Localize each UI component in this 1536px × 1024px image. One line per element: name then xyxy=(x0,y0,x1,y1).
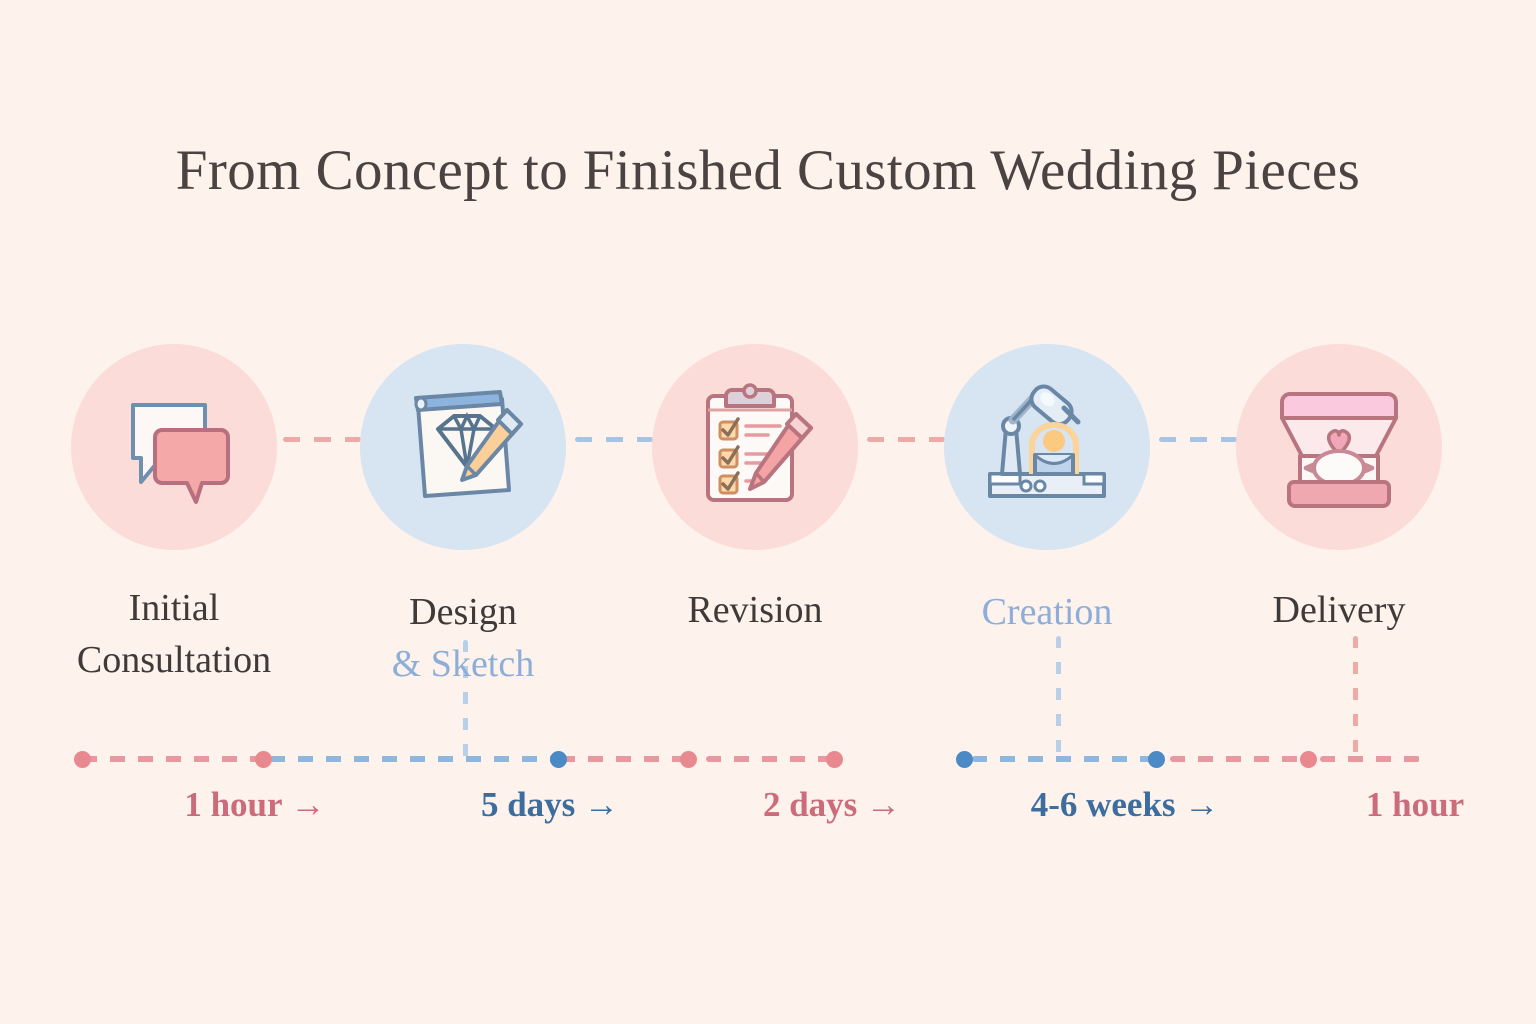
stage-label-design-sketch: Design & Sketch xyxy=(343,586,583,690)
duration-label-2: 5 days → xyxy=(410,785,690,825)
stage-circle-initial-consultation[interactable] xyxy=(71,344,277,550)
timeline-segment-2 xyxy=(270,756,555,762)
sketchpad-diamond-pencil-icon xyxy=(388,372,538,522)
timeline-segment-3 xyxy=(560,756,698,762)
duration-label-1: 1 hour → xyxy=(115,785,395,825)
page-title: From Concept to Finished Custom Wedding … xyxy=(0,138,1536,203)
timeline-node-end[interactable] xyxy=(1300,751,1317,768)
timeline-node-6[interactable] xyxy=(1148,751,1165,768)
stage-circle-revision[interactable] xyxy=(652,344,858,550)
duration-label-4: 4-6 weeks → xyxy=(985,785,1265,825)
timeline-node-4[interactable] xyxy=(826,751,843,768)
stage-label-row: Initial Consultation Design & Sketch Rev… xyxy=(60,582,1476,692)
timeline-track xyxy=(60,752,1476,766)
ring-box-icon xyxy=(1264,372,1414,522)
timeline-node-5[interactable] xyxy=(956,751,973,768)
stage-label-line2: & Sketch xyxy=(343,638,583,690)
stage-label-initial-consultation: Initial Consultation xyxy=(54,582,294,686)
stage-label-line1: Revision xyxy=(687,589,822,631)
stage-label-line1: Delivery xyxy=(1273,589,1406,631)
duration-label-5: 1 hour xyxy=(1275,785,1536,825)
stage-label-revision: Revision xyxy=(635,584,875,636)
stage-label-line1: Initial xyxy=(129,587,220,629)
timeline-node-3[interactable] xyxy=(680,751,697,768)
timeline-node-start[interactable] xyxy=(74,751,91,768)
timeline-segment-3b xyxy=(706,756,842,762)
stage-circle-creation[interactable] xyxy=(944,344,1150,550)
duration-label-row: 1 hour → 5 days → 2 days → 4-6 weeks → 1… xyxy=(60,785,1476,845)
timeline-node-1[interactable] xyxy=(255,751,272,768)
timeline-segment-1 xyxy=(82,756,262,762)
duration-label-3: 2 days → xyxy=(692,785,972,825)
timeline-segment-4 xyxy=(972,756,1162,762)
timeline-segment-5 xyxy=(1170,756,1312,762)
jewelry-machine-icon xyxy=(972,372,1122,522)
stage-icon-row xyxy=(60,332,1476,572)
clipboard-checklist-pencil-icon xyxy=(680,372,830,522)
stage-label-creation: Creation xyxy=(927,586,1167,638)
stage-circle-design-sketch[interactable] xyxy=(360,344,566,550)
stage-label-line2: Consultation xyxy=(54,634,294,686)
stage-circle-delivery[interactable] xyxy=(1236,344,1442,550)
stage-label-delivery: Delivery xyxy=(1219,584,1459,636)
speech-bubbles-icon xyxy=(99,372,249,522)
timeline-node-2[interactable] xyxy=(550,751,567,768)
stage-label-line1: Design xyxy=(409,591,517,633)
timeline-segment-5b xyxy=(1320,756,1420,762)
stage-label-line1: Creation xyxy=(982,591,1113,633)
